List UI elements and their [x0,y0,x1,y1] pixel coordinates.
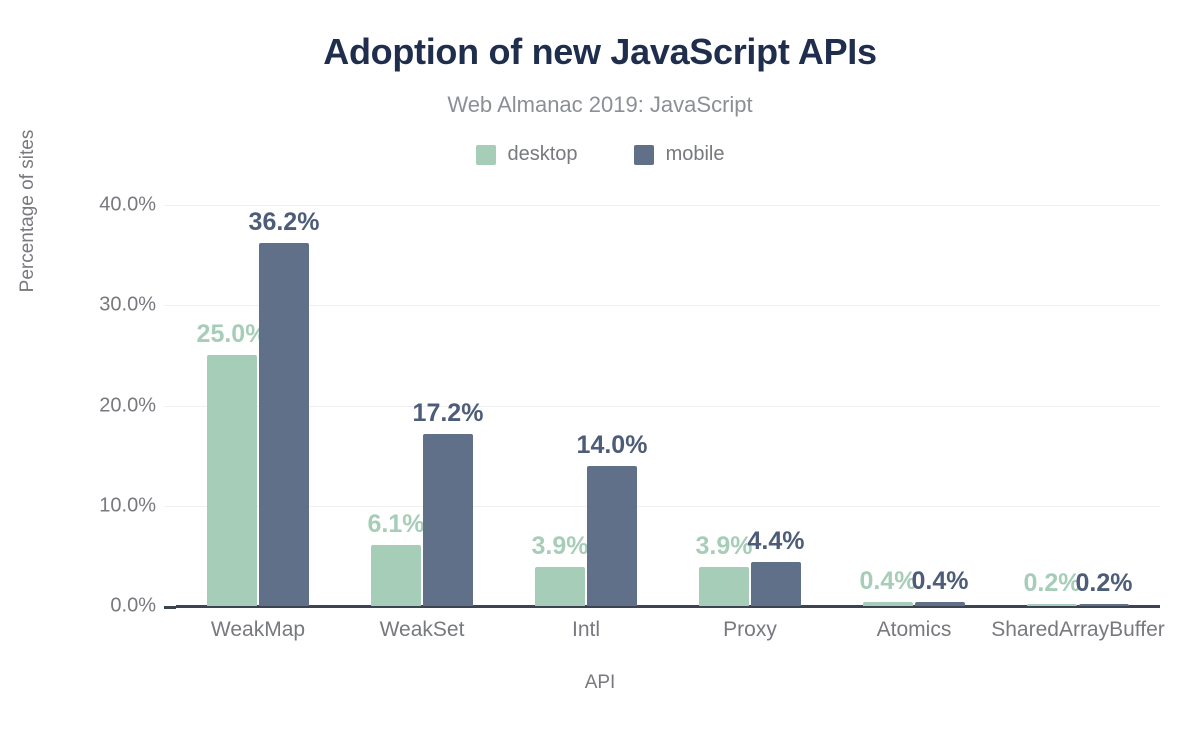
bar-chart: Adoption of new JavaScript APIs Web Alma… [0,0,1200,742]
bar-value-label-weakmap-mobile: 36.2% [249,208,320,237]
gridline [176,305,1160,306]
x-tick-label-weakmap: WeakMap [211,618,305,642]
y-tick-label: 20.0% [46,394,156,417]
bar-weakset-mobile[interactable] [423,434,473,606]
bar-value-label-intl-desktop: 3.9% [532,532,589,561]
y-tick-mark [164,406,176,407]
y-tick-label: 0.0% [46,595,156,618]
y-tick-label: 40.0% [46,194,156,217]
y-tick-mark [164,305,176,306]
bar-value-label-atomics-mobile: 0.4% [912,567,969,596]
y-tick-label: 10.0% [46,494,156,517]
bar-intl-desktop[interactable] [535,567,585,606]
y-tick-label: 30.0% [46,294,156,317]
legend-item-mobile[interactable]: mobile [634,143,725,166]
gridline [176,406,1160,407]
bar-sharedarraybuffer-mobile[interactable] [1079,604,1129,606]
legend-label-desktop: desktop [508,143,578,166]
bar-value-label-proxy-mobile: 4.4% [748,527,805,556]
bar-atomics-mobile[interactable] [915,602,965,606]
bar-proxy-desktop[interactable] [699,567,749,606]
x-axis-line [176,605,1160,608]
legend-swatch-mobile [634,145,654,165]
chart-title: Adoption of new JavaScript APIs [0,32,1200,72]
chart-subtitle: Web Almanac 2019: JavaScript [0,92,1200,118]
bar-intl-mobile[interactable] [587,466,637,606]
bar-weakmap-mobile[interactable] [259,243,309,606]
bar-value-label-intl-mobile: 14.0% [577,431,648,460]
x-tick-label-proxy: Proxy [723,618,777,642]
bar-value-label-atomics-desktop: 0.4% [860,567,917,596]
chart-legend: desktopmobile [0,143,1200,166]
bar-value-label-weakset-mobile: 17.2% [413,399,484,428]
gridline [176,205,1160,206]
y-axis-title: Percentage of sites [17,0,39,561]
x-tick-label-atomics: Atomics [877,618,952,642]
bar-value-label-proxy-desktop: 3.9% [696,532,753,561]
legend-item-desktop[interactable]: desktop [476,143,578,166]
x-tick-label-sharedarraybuffer: SharedArrayBuffer [991,618,1165,642]
plot-area: 25.0%36.2%6.1%17.2%3.9%14.0%3.9%4.4%0.4%… [176,205,1160,606]
y-tick-mark [164,205,176,206]
x-tick-label-intl: Intl [572,618,600,642]
x-axis-title: API [0,672,1200,694]
bar-value-label-weakset-desktop: 6.1% [368,510,425,539]
bar-value-label-sharedarraybuffer-desktop: 0.2% [1024,569,1081,598]
gridline [176,506,1160,507]
legend-swatch-desktop [476,145,496,165]
y-tick-mark [164,606,176,609]
bar-weakmap-desktop[interactable] [207,355,257,606]
bar-value-label-sharedarraybuffer-mobile: 0.2% [1076,569,1133,598]
bar-weakset-desktop[interactable] [371,545,421,606]
bar-proxy-mobile[interactable] [751,562,801,606]
y-tick-mark [164,506,176,507]
legend-label-mobile: mobile [666,143,725,166]
x-tick-label-weakset: WeakSet [380,618,465,642]
bar-value-label-weakmap-desktop: 25.0% [197,320,268,349]
bar-sharedarraybuffer-desktop[interactable] [1027,604,1077,606]
bar-atomics-desktop[interactable] [863,602,913,606]
